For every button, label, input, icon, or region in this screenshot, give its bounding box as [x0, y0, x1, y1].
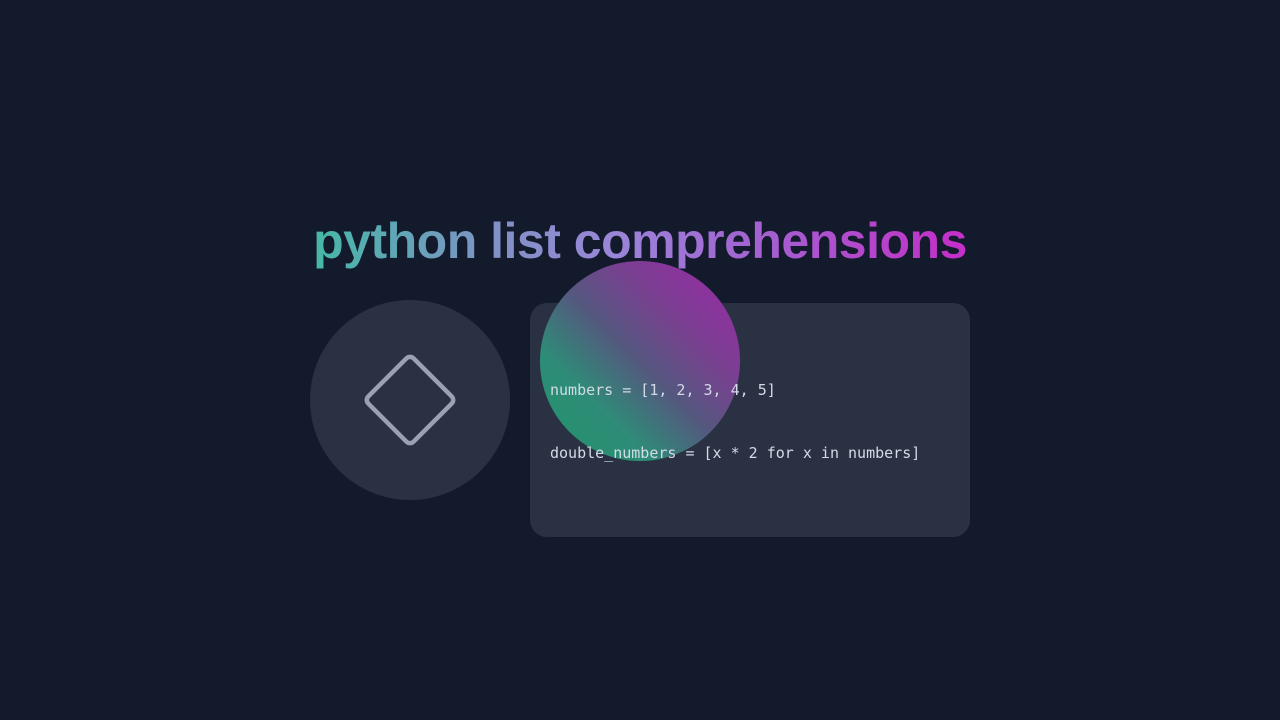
- diamond-icon: [360, 350, 460, 450]
- code-block: numbers = [1, 2, 3, 4, 5] double_numbers…: [550, 338, 920, 506]
- slide-canvas: python list comprehensions numbers = [1,…: [0, 0, 1280, 720]
- code-line: double_numbers = [x * 2 for x in numbers…: [550, 443, 920, 464]
- code-line: numbers = [1, 2, 3, 4, 5]: [550, 380, 920, 401]
